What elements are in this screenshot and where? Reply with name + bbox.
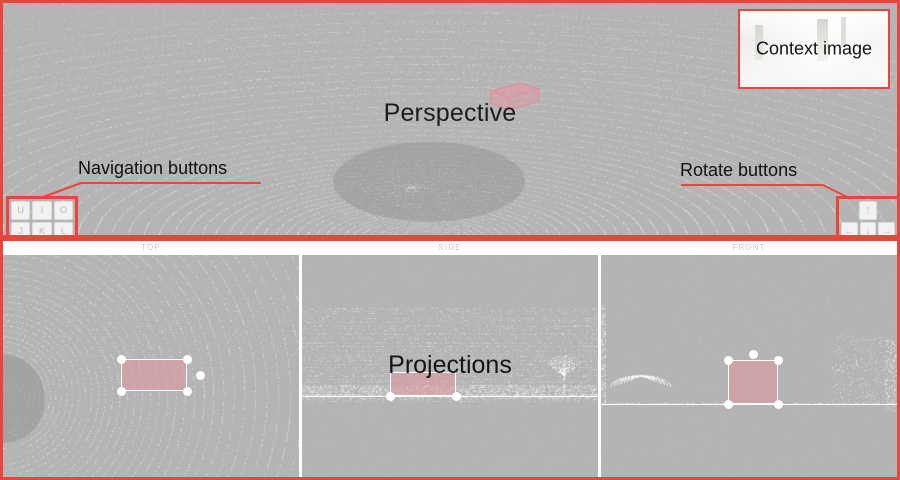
nav-key-i[interactable]: I: [32, 201, 51, 220]
projections-strip: TOP SIDE Projections: [0, 238, 900, 480]
projection-title-top: TOP: [3, 241, 299, 255]
handle-side-bl[interactable]: [386, 392, 395, 401]
nav-key-l[interactable]: L: [54, 222, 73, 238]
projection-body-side[interactable]: Projections: [302, 255, 598, 477]
projection-pane-front[interactable]: FRONT: [601, 241, 897, 477]
perspective-viewport[interactable]: Perspective Context image U I O J: [0, 0, 900, 238]
projection-body-front[interactable]: [601, 255, 897, 477]
projection-pane-top[interactable]: TOP: [3, 241, 302, 477]
handle-top-heading[interactable]: [196, 371, 205, 380]
lidar-annotation-tool: Perspective Context image U I O J: [0, 0, 900, 480]
arrow-right-icon[interactable]: →: [878, 222, 895, 238]
handle-top-tl[interactable]: [117, 355, 126, 364]
bounding-box-top[interactable]: [121, 359, 187, 391]
bounding-box-side[interactable]: [390, 372, 456, 396]
projection-title-front: FRONT: [601, 241, 897, 255]
arrow-down-icon[interactable]: ↓: [860, 222, 877, 238]
navigation-buttons-group[interactable]: U I O J K L: [6, 196, 78, 238]
navigation-row-1: U I O: [11, 201, 73, 220]
handle-front-rotate[interactable]: [749, 350, 758, 359]
rotate-buttons-callout: Rotate buttons: [680, 160, 797, 181]
ground-line-side: [302, 396, 598, 397]
handle-top-br[interactable]: [183, 387, 192, 396]
projection-body-top[interactable]: [3, 255, 299, 477]
arrow-left-icon[interactable]: ←: [841, 222, 858, 238]
handle-side-br[interactable]: [452, 392, 461, 401]
context-image-label: Context image: [740, 39, 888, 60]
rotate-row-1: ↑: [841, 201, 895, 220]
projection-pane-side[interactable]: SIDE Projections: [302, 241, 601, 477]
rotate-spacer-right: [879, 201, 895, 218]
navigation-row-2: J K L: [11, 222, 73, 238]
context-image-road: [738, 57, 890, 89]
handle-front-br[interactable]: [774, 400, 783, 409]
ground-line-front: [601, 404, 897, 405]
handle-front-bl[interactable]: [724, 400, 733, 409]
context-image-panel[interactable]: Context image: [738, 9, 890, 89]
handle-top-bl[interactable]: [117, 387, 126, 396]
rotate-buttons-group[interactable]: ↑ ← ↓ →: [836, 196, 900, 238]
nav-key-o[interactable]: O: [54, 201, 73, 220]
nav-key-j[interactable]: J: [11, 222, 30, 238]
bounding-box-front[interactable]: [728, 360, 778, 404]
navigation-buttons-callout: Navigation buttons: [78, 158, 227, 179]
rotate-spacer-left: [841, 201, 857, 218]
bounding-box-3d[interactable]: [487, 79, 543, 113]
handle-front-tr[interactable]: [774, 356, 783, 365]
rotate-row-2: ← ↓ →: [841, 222, 895, 238]
projection-title-side: SIDE: [302, 241, 598, 255]
nav-key-u[interactable]: U: [11, 201, 30, 220]
handle-front-tl[interactable]: [724, 356, 733, 365]
handle-top-tr[interactable]: [183, 355, 192, 364]
arrow-up-icon[interactable]: ↑: [859, 201, 877, 220]
nav-key-k[interactable]: K: [32, 222, 51, 238]
